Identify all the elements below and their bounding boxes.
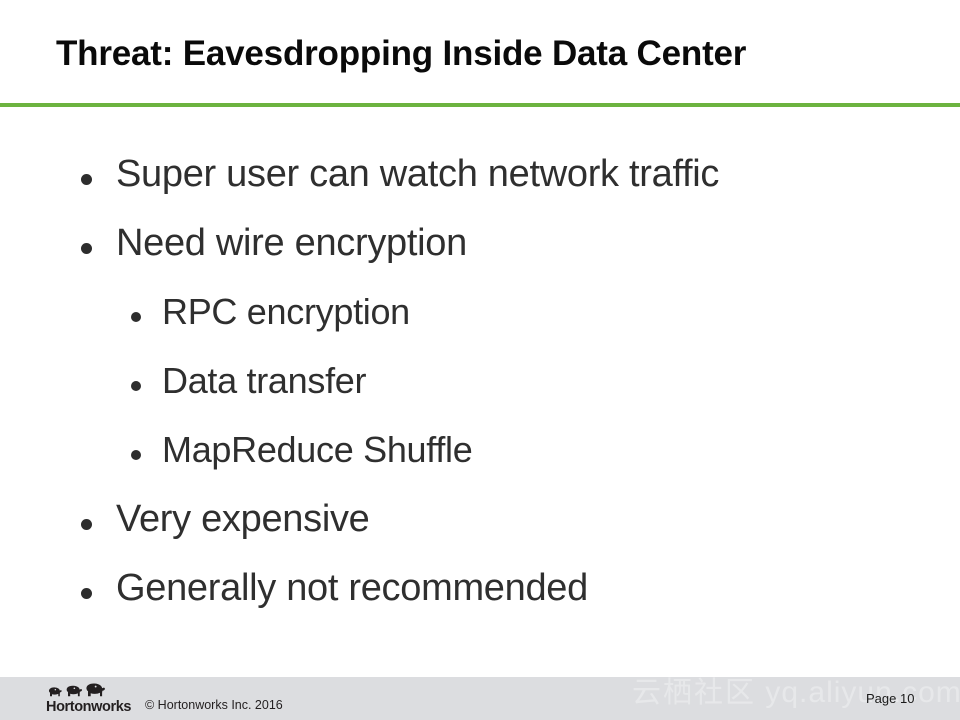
page-number: Page 10 [866, 691, 914, 707]
list-item: Super user can watch network traffic [0, 146, 960, 215]
bullet-dot-icon [131, 381, 141, 391]
bullet-text: Data transfer [162, 354, 366, 408]
list-item: Data transfer [0, 353, 960, 422]
bullet-dot-icon [81, 588, 92, 599]
watermark-chinese-text: 云栖社区 [632, 675, 756, 709]
bullet-text: Very expensive [116, 491, 370, 547]
title-accent-rule [0, 103, 960, 107]
bullet-dot-icon [81, 519, 92, 530]
bullet-text: MapReduce Shuffle [162, 423, 472, 477]
bullet-text: Need wire encryption [116, 215, 467, 271]
three-elephants-icon [46, 682, 138, 699]
page-title: Threat: Eavesdropping Inside Data Center [56, 32, 916, 76]
bullet-dot-icon [131, 450, 141, 460]
hortonworks-logo: Hortonworks [46, 682, 138, 716]
copyright-text: © Hortonworks Inc. 2016 [145, 697, 283, 713]
list-item: MapReduce Shuffle [0, 422, 960, 491]
slide-canvas: Threat: Eavesdropping Inside Data Center… [0, 0, 960, 720]
bullet-text: Generally not recommended [116, 560, 588, 616]
list-item: RPC encryption [0, 284, 960, 353]
watermark-url-text: yq.aliyun.com [765, 676, 960, 709]
bullet-list: Super user can watch network traffic Nee… [0, 146, 960, 629]
bullet-text: RPC encryption [162, 285, 410, 339]
bullet-text: Super user can watch network traffic [116, 146, 719, 202]
list-item: Need wire encryption [0, 215, 960, 284]
list-item: Generally not recommended [0, 560, 960, 629]
hortonworks-wordmark: Hortonworks [46, 699, 138, 715]
bullet-dot-icon [81, 243, 92, 254]
bullet-dot-icon [81, 174, 92, 185]
bullet-dot-icon [131, 312, 141, 322]
list-item: Very expensive [0, 491, 960, 560]
